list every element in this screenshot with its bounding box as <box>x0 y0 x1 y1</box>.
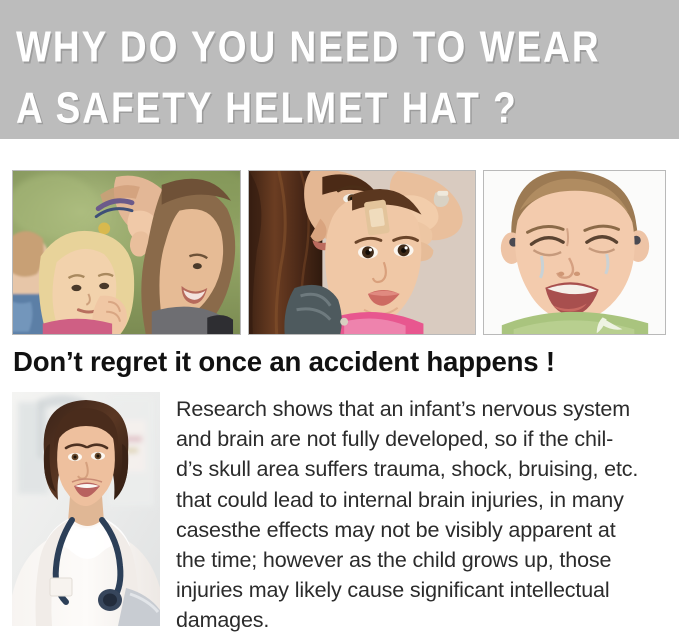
photo-strip <box>12 170 666 335</box>
photo-1-art <box>13 171 240 335</box>
doctor-photo <box>12 392 160 626</box>
header-title-line-1: WHY DO YOU NEED TO WEAR <box>16 19 679 76</box>
section-headline: Don’t regret it once an accident happens… <box>13 346 663 378</box>
photo-crying-toddler <box>483 170 666 335</box>
photo-child-comforted-outdoors <box>12 170 241 335</box>
photo-mother-applying-bandage <box>248 170 476 335</box>
photo-3-art <box>484 171 665 334</box>
body-line: injuries may likely cause significant in… <box>176 575 674 605</box>
photo-2-art <box>249 171 475 335</box>
body-line: d’s skull area suffers trauma, shock, br… <box>176 454 674 484</box>
body-line: Research shows that an infant’s nervous … <box>176 394 674 424</box>
body-line: the time; however as the child grows up,… <box>176 545 674 575</box>
body-paragraph: Research shows that an infant’s nervous … <box>176 394 674 636</box>
infographic-page: WHY DO YOU NEED TO WEAR A SAFETY HELMET … <box>0 0 679 626</box>
header-title-line-2: A SAFETY HELMET HAT ? <box>16 80 679 137</box>
body-line: casesthe effects may not be visibly appa… <box>176 515 674 545</box>
body-line: that could lead to internal brain injuri… <box>176 485 674 515</box>
body-line: and brain are not fully developed, so if… <box>176 424 674 454</box>
body-line: damages. <box>176 605 674 635</box>
doctor-portrait-art <box>12 392 160 626</box>
header-banner: WHY DO YOU NEED TO WEAR A SAFETY HELMET … <box>0 0 679 139</box>
